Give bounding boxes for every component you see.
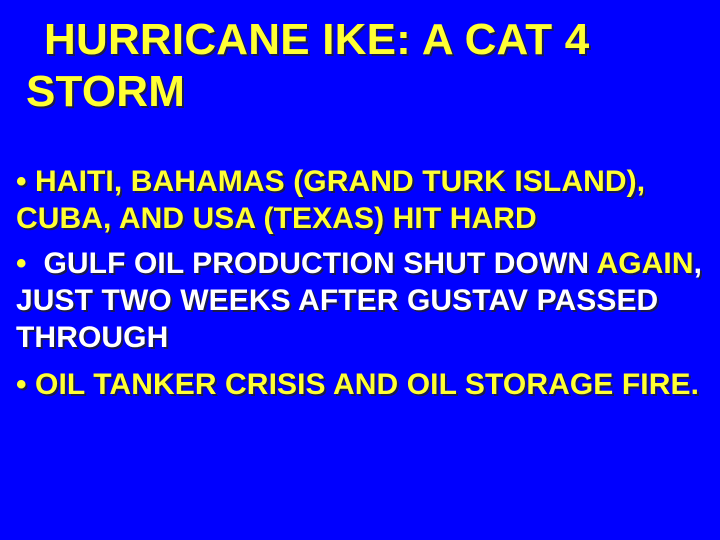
list-item: • OIL TANKER CRISIS AND OIL STORAGE FIRE…	[16, 366, 716, 403]
page-title: HURRICANE IKE: A CAT 4 STORM	[26, 14, 694, 118]
list-item-label: OIL TANKER CRISIS AND OIL STORAGE FIRE.	[27, 368, 699, 401]
list-item-highlight: AGAIN	[596, 247, 693, 280]
list-item: • GULF OIL PRODUCTION SHUT DOWN AGAIN, J…	[16, 245, 716, 356]
bullet-marker-icon: •	[16, 368, 27, 401]
list-item-label: HAITI, BAHAMAS (GRAND TURK ISLAND), CUBA…	[16, 165, 654, 235]
list-item-label-pre: GULF OIL PRODUCTION SHUT DOWN	[27, 247, 597, 280]
bullet-marker-icon: •	[16, 165, 27, 198]
bullet-marker-icon: •	[16, 247, 27, 280]
bullet-list: • HAITI, BAHAMAS (GRAND TURK ISLAND), CU…	[16, 163, 716, 405]
title-block: HURRICANE IKE: A CAT 4 STORM	[26, 14, 694, 118]
slide-canvas: HURRICANE IKE: A CAT 4 STORM • HAITI, BA…	[0, 0, 720, 540]
list-item: • HAITI, BAHAMAS (GRAND TURK ISLAND), CU…	[16, 163, 716, 237]
